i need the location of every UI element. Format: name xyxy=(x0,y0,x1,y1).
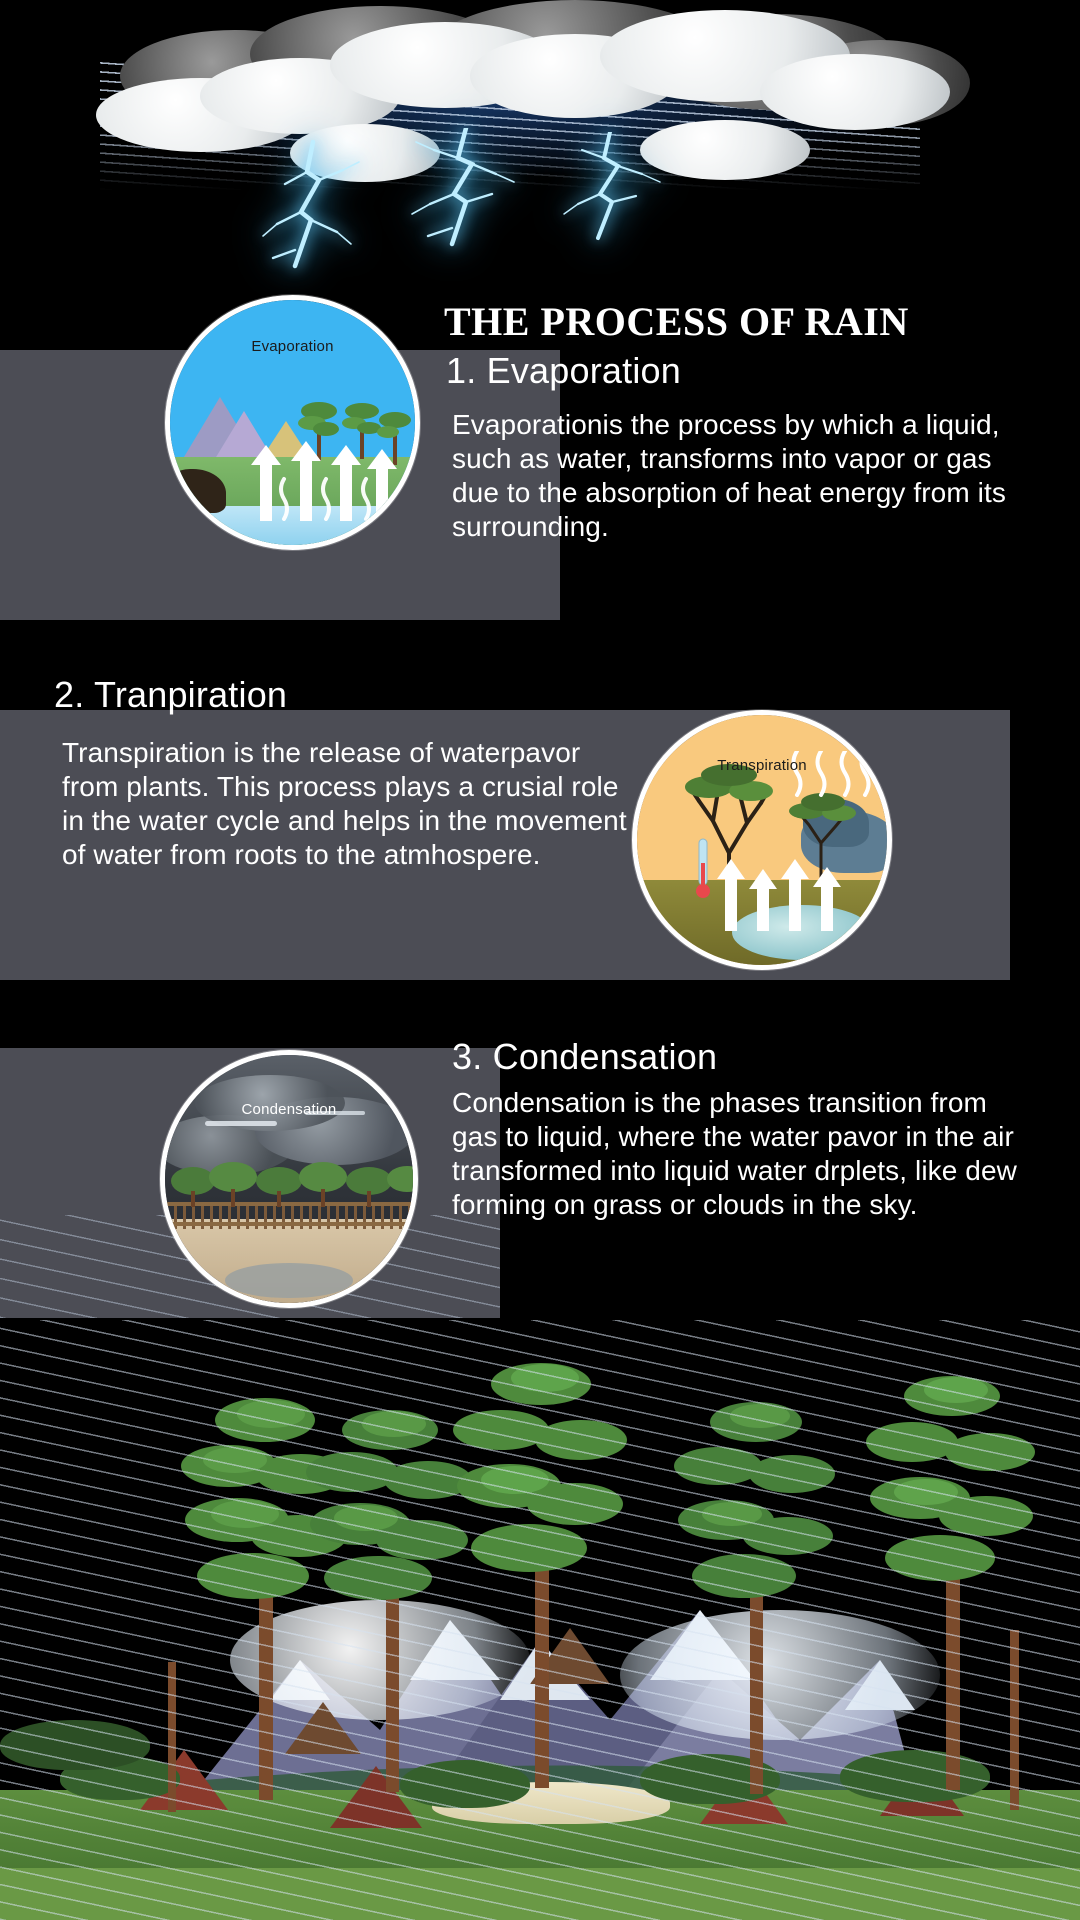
transpiration-circle-label: Transpiration xyxy=(637,757,887,774)
vapor-arrows xyxy=(715,843,845,931)
step-1-body: Evaporationis the process by which a liq… xyxy=(452,408,1012,545)
rock-shape xyxy=(166,469,226,513)
lightning-bolt-icon xyxy=(255,140,395,270)
pine-tree-icon xyxy=(435,1358,645,1788)
bush-shape xyxy=(0,1720,150,1770)
forest-grass-foreground xyxy=(0,1868,1080,1920)
storm-cloud-light xyxy=(760,54,950,130)
pine-tree-icon xyxy=(850,1370,1050,1790)
lightning-bolt-icon xyxy=(560,132,680,242)
step-2-heading: 2. Tranpiration xyxy=(54,674,287,716)
page-title: THE PROCESS OF RAIN xyxy=(444,298,909,345)
forest-scene-footer xyxy=(0,1320,1080,1920)
thermometer-icon xyxy=(695,837,711,901)
lightning-bolt-icon xyxy=(400,128,530,248)
storm-scene-header xyxy=(0,0,1080,300)
puddle-shape xyxy=(225,1263,354,1298)
step-2-body: Transpiration is the release of waterpav… xyxy=(62,736,627,873)
evaporation-illustration: Evaporation xyxy=(165,295,420,550)
evaporation-circle-label: Evaporation xyxy=(170,338,415,355)
cloud-streak xyxy=(205,1121,277,1126)
transpiration-illustration: Transpiration xyxy=(632,710,892,970)
tree-row xyxy=(171,1151,418,1207)
fence-rail xyxy=(165,1222,413,1226)
step-3-heading: 3. Condensation xyxy=(452,1036,717,1078)
tree-trunk xyxy=(1010,1630,1019,1810)
vapor-arrows xyxy=(248,439,398,521)
tree-trunk xyxy=(168,1662,176,1812)
pine-tree-icon xyxy=(660,1394,850,1794)
step-3-body: Condensation is the phases transition fr… xyxy=(452,1086,1032,1223)
condensation-circle-label: Condensation xyxy=(165,1101,413,1118)
condensation-illustration: Condensation xyxy=(160,1050,418,1308)
step-1-heading: 1. Evaporation xyxy=(446,350,681,392)
